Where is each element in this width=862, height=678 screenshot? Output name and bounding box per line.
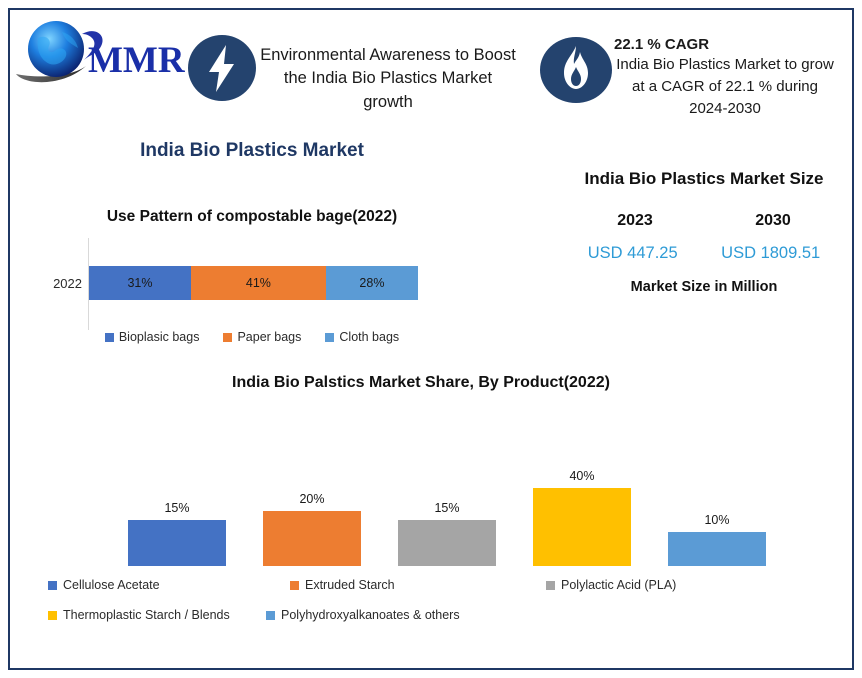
chart1-legend-label: Cloth bags	[339, 330, 399, 344]
chart2-legend-label: Polylactic Acid (PLA)	[561, 578, 676, 592]
legend-swatch-icon	[325, 333, 334, 342]
chart1-segment-1: 41%	[191, 266, 326, 300]
chart2-title: India Bio Palstics Market Share, By Prod…	[24, 374, 818, 392]
chart2-bar	[533, 488, 631, 566]
cagr-description: India Bio Plastics Market to grow at a C…	[612, 54, 838, 119]
chart2-column-4: 10%	[668, 513, 766, 566]
chart1-legend-item-0: Bioplasic bags	[105, 330, 200, 344]
legend-swatch-icon	[546, 581, 555, 590]
chart1-stacked-bar: 31%41%28%	[89, 266, 418, 300]
market-size-panel: India Bio Plastics Market Size 2023 2030…	[566, 168, 842, 295]
chart1-legend-label: Bioplasic bags	[119, 330, 200, 344]
chart1-legend-label: Paper bags	[237, 330, 301, 344]
chart2-column-0: 15%	[128, 501, 226, 566]
chart1-legend-item-2: Cloth bags	[325, 330, 399, 344]
chart2-column-1: 20%	[263, 492, 361, 566]
cagr-value: 22.1 % CAGR	[612, 36, 838, 53]
page-title: India Bio Plastics Market	[24, 140, 480, 162]
market-size-value-right: USD 1809.51	[721, 244, 820, 263]
market-size-years: 2023 2030	[566, 212, 842, 230]
chart1-segment-2: 28%	[326, 266, 418, 300]
market-size-values: USD 447.25 USD 1809.51	[566, 244, 842, 263]
chart2-bar	[263, 511, 361, 566]
legend-swatch-icon	[48, 611, 57, 620]
cagr-block: 22.1 % CAGR India Bio Plastics Market to…	[612, 36, 838, 119]
chart2-legend-label: Extruded Starch	[305, 578, 395, 592]
flame-icon	[538, 34, 614, 106]
chart-use-pattern-compostable-bags: 2022 31%41%28% Bioplasic bagsPaper bagsC…	[24, 238, 480, 358]
chart2-legend-item-1: Extruded Starch	[290, 578, 395, 592]
chart2-value-label: 40%	[569, 469, 594, 483]
chart2-legend: Cellulose AcetateExtruded StarchPolylact…	[48, 578, 748, 638]
legend-swatch-icon	[266, 611, 275, 620]
lightning-bolt-icon	[186, 32, 258, 104]
chart2-bar	[128, 520, 226, 566]
chart2-bar	[668, 532, 766, 566]
chart1-segment-0: 31%	[89, 266, 191, 300]
legend-swatch-icon	[48, 581, 57, 590]
chart1-legend-item-1: Paper bags	[223, 330, 301, 344]
chart2-legend-item-0: Cellulose Acetate	[48, 578, 160, 592]
chart2-value-label: 15%	[164, 501, 189, 515]
chart1-legend: Bioplasic bagsPaper bagsCloth bags	[24, 330, 480, 344]
chart2-legend-item-4: Polyhydroxyalkanoates & others	[266, 608, 460, 622]
header: MMR Environmental Awareness to Boost the…	[0, 0, 842, 130]
market-size-footer: Market Size in Million	[566, 279, 842, 295]
market-size-title: India Bio Plastics Market Size	[566, 168, 842, 190]
chart2-legend-item-2: Polylactic Acid (PLA)	[546, 578, 676, 592]
chart2-value-label: 15%	[434, 501, 459, 515]
market-size-value-left: USD 447.25	[588, 244, 678, 263]
chart2-legend-label: Thermoplastic Starch / Blends	[63, 608, 230, 622]
chart2-legend-row-1: Thermoplastic Starch / BlendsPolyhydroxy…	[48, 608, 748, 626]
chart1-title: Use Pattern of compostable bage(2022)	[24, 208, 480, 226]
chart2-column-3: 40%	[533, 469, 631, 566]
mmr-logo: MMR	[12, 16, 188, 88]
chart2-legend-label: Polyhydroxyalkanoates & others	[281, 608, 460, 622]
market-size-year-right: 2030	[755, 212, 791, 230]
svg-text:MMR: MMR	[88, 40, 186, 81]
chart2-legend-row-0: Cellulose AcetateExtruded StarchPolylact…	[48, 578, 748, 596]
legend-swatch-icon	[290, 581, 299, 590]
chart2-column-2: 15%	[398, 501, 496, 566]
infographic-page: MMR Environmental Awareness to Boost the…	[0, 0, 862, 678]
chart2-legend-label: Cellulose Acetate	[63, 578, 160, 592]
chart2-value-label: 10%	[704, 513, 729, 527]
chart2-plot-area: 15%20%15%40%10%	[100, 406, 740, 566]
chart2-legend-item-3: Thermoplastic Starch / Blends	[48, 608, 230, 622]
chart1-category-label: 2022	[34, 276, 82, 291]
chart2-value-label: 20%	[299, 492, 324, 506]
chart-market-share-by-product: 15%20%15%40%10%	[100, 406, 740, 566]
legend-swatch-icon	[105, 333, 114, 342]
header-headline-1: Environmental Awareness to Boost the Ind…	[258, 44, 518, 114]
chart2-bar	[398, 520, 496, 566]
market-size-year-left: 2023	[617, 212, 653, 230]
legend-swatch-icon	[223, 333, 232, 342]
